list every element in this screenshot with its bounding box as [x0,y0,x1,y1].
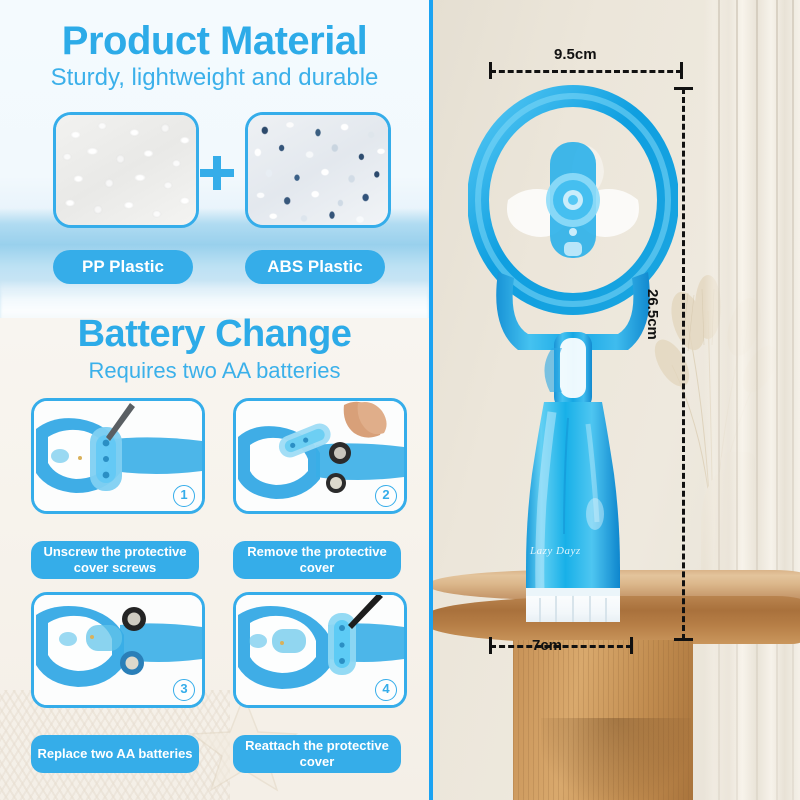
step-reattach-cover-label: Reattach the protective cover [233,735,401,773]
height-dimension-cap-bottom [674,638,693,641]
step-reattach-cover-photo: 4 [233,592,407,708]
pp-plastic-label: PP Plastic [53,250,193,284]
height-dimension-line [682,88,685,640]
step-replace-batteries-photo: 3 [31,592,205,708]
height-dimension-cap-top [674,87,693,90]
step-number-badge: 2 [375,485,397,507]
step-unscrew-cover-photo: 1 [31,398,205,514]
step-replace-batteries-label: Replace two AA batteries [31,735,199,773]
abs-plastic-label: ABS Plastic [245,250,385,284]
step-remove-cover-label: Remove the protective cover [233,541,401,579]
battery-change-subtitle: Requires two AA batteries [0,357,429,385]
sheer-curtain [704,0,800,800]
width-dimension-label: 9.5cm [554,46,597,63]
table-shadow [541,718,691,800]
product-brand-label: Lazy Dayz [530,545,581,557]
step-number-badge: 3 [173,679,195,701]
base-width-dimension-cap-left [489,637,492,654]
width-dimension-line [490,70,682,73]
width-dimension-cap-right [680,62,683,79]
product-material-title: Product Material [0,18,429,64]
base-width-dimension-label: 7cm [532,637,562,654]
left-info-panel: Product Material Sturdy, lightweight and… [0,0,429,800]
step-number-badge: 1 [173,485,195,507]
step-remove-cover-photo: 2 [233,398,407,514]
battery-change-title: Battery Change [0,312,429,356]
product-photo-panel: Lazy Dayz 9.5cm 26.5cm 7cm [433,0,800,800]
height-dimension-label: 26.5cm [644,289,661,340]
infographic-page: Product Material Sturdy, lightweight and… [0,0,800,800]
pp-plastic-pellets-photo [53,112,199,228]
base-width-dimension-cap-right [630,637,633,654]
width-dimension-cap-left [489,62,492,79]
step-number-badge: 4 [375,679,397,701]
plus-icon [196,154,238,196]
misting-fan-product-photo [468,82,678,622]
abs-plastic-pellets-photo [245,112,391,228]
step-unscrew-cover-label: Unscrew the protective cover screws [31,541,199,579]
product-material-subtitle: Sturdy, lightweight and durable [0,63,429,93]
